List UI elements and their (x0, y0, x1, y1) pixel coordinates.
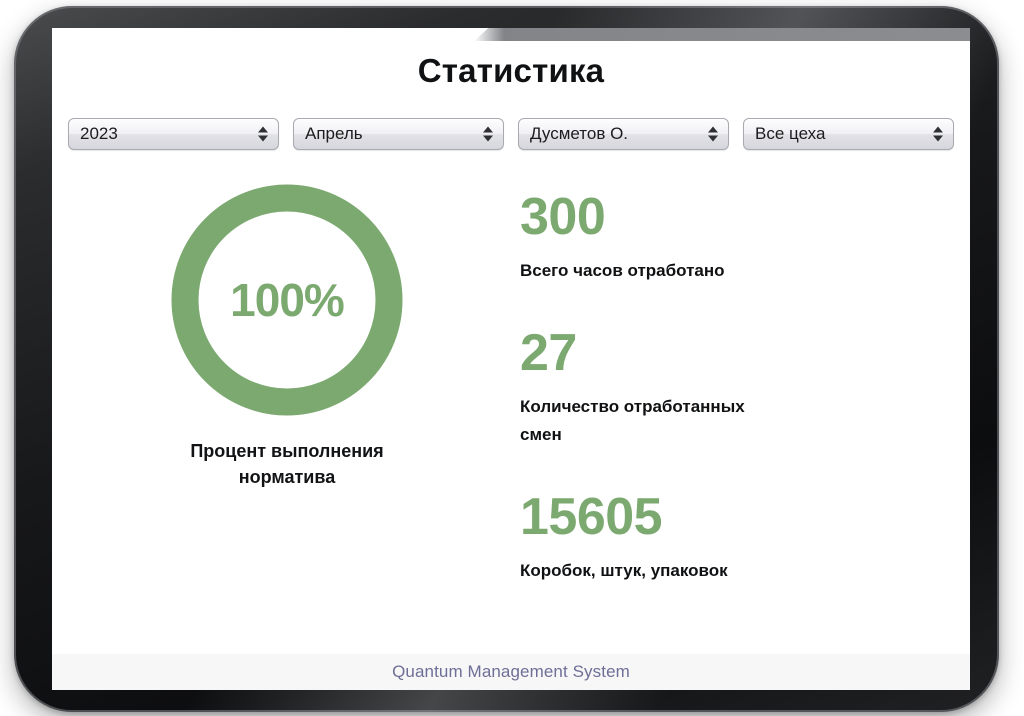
month-select-value: Апрель (294, 124, 393, 144)
employee-select[interactable]: Дусметов О. (518, 118, 729, 150)
stat-value: 300 (520, 190, 950, 244)
filter-bar: 2023 Апрель Дусметов О. (52, 118, 970, 150)
employee-select-value: Дусметов О. (519, 124, 658, 144)
screenshot-root: Статистика 2023 Апрель Дусметов О. (0, 0, 1024, 716)
stats-column: 300 Всего часов отработано 27 Количество… (502, 184, 950, 584)
workshop-select[interactable]: Все цеха (743, 118, 954, 150)
stat-hours-worked: 300 Всего часов отработано (520, 190, 950, 284)
footer-brand-text: Quantum Management System (392, 662, 630, 682)
page-title: Статистика (52, 52, 970, 90)
footer-bar: Quantum Management System (52, 654, 970, 690)
stat-boxes-count: 15605 Коробок, штук, упаковок (520, 490, 950, 584)
stat-shifts-count: 27 Количество отработанных смен (520, 326, 950, 447)
stat-label: Количество отработанных смен (520, 393, 782, 447)
tablet-device: Статистика 2023 Апрель Дусметов О. (14, 6, 999, 712)
donut-center-value: 100% (171, 184, 403, 416)
screen-glare (474, 28, 970, 41)
donut-chart: 100% (171, 184, 403, 416)
stat-value: 15605 (520, 490, 950, 544)
stat-value: 27 (520, 326, 950, 380)
donut-caption: Процент выполнения норматива (167, 438, 407, 490)
dashboard-body: 100% Процент выполнения норматива 300 Вс… (52, 184, 970, 584)
tablet-screen: Статистика 2023 Апрель Дусметов О. (52, 28, 970, 690)
year-select-value: 2023 (69, 124, 148, 144)
workshop-select-value: Все цеха (744, 124, 855, 144)
year-select[interactable]: 2023 (68, 118, 279, 150)
stepper-arrows-icon[interactable] (708, 127, 718, 142)
stepper-arrows-icon[interactable] (258, 127, 268, 142)
donut-column: 100% Процент выполнения норматива (72, 184, 502, 584)
month-select[interactable]: Апрель (293, 118, 504, 150)
stepper-arrows-icon[interactable] (483, 127, 493, 142)
stepper-arrows-icon[interactable] (933, 127, 943, 142)
stat-label: Всего часов отработано (520, 257, 782, 284)
stat-label: Коробок, штук, упаковок (520, 557, 782, 584)
